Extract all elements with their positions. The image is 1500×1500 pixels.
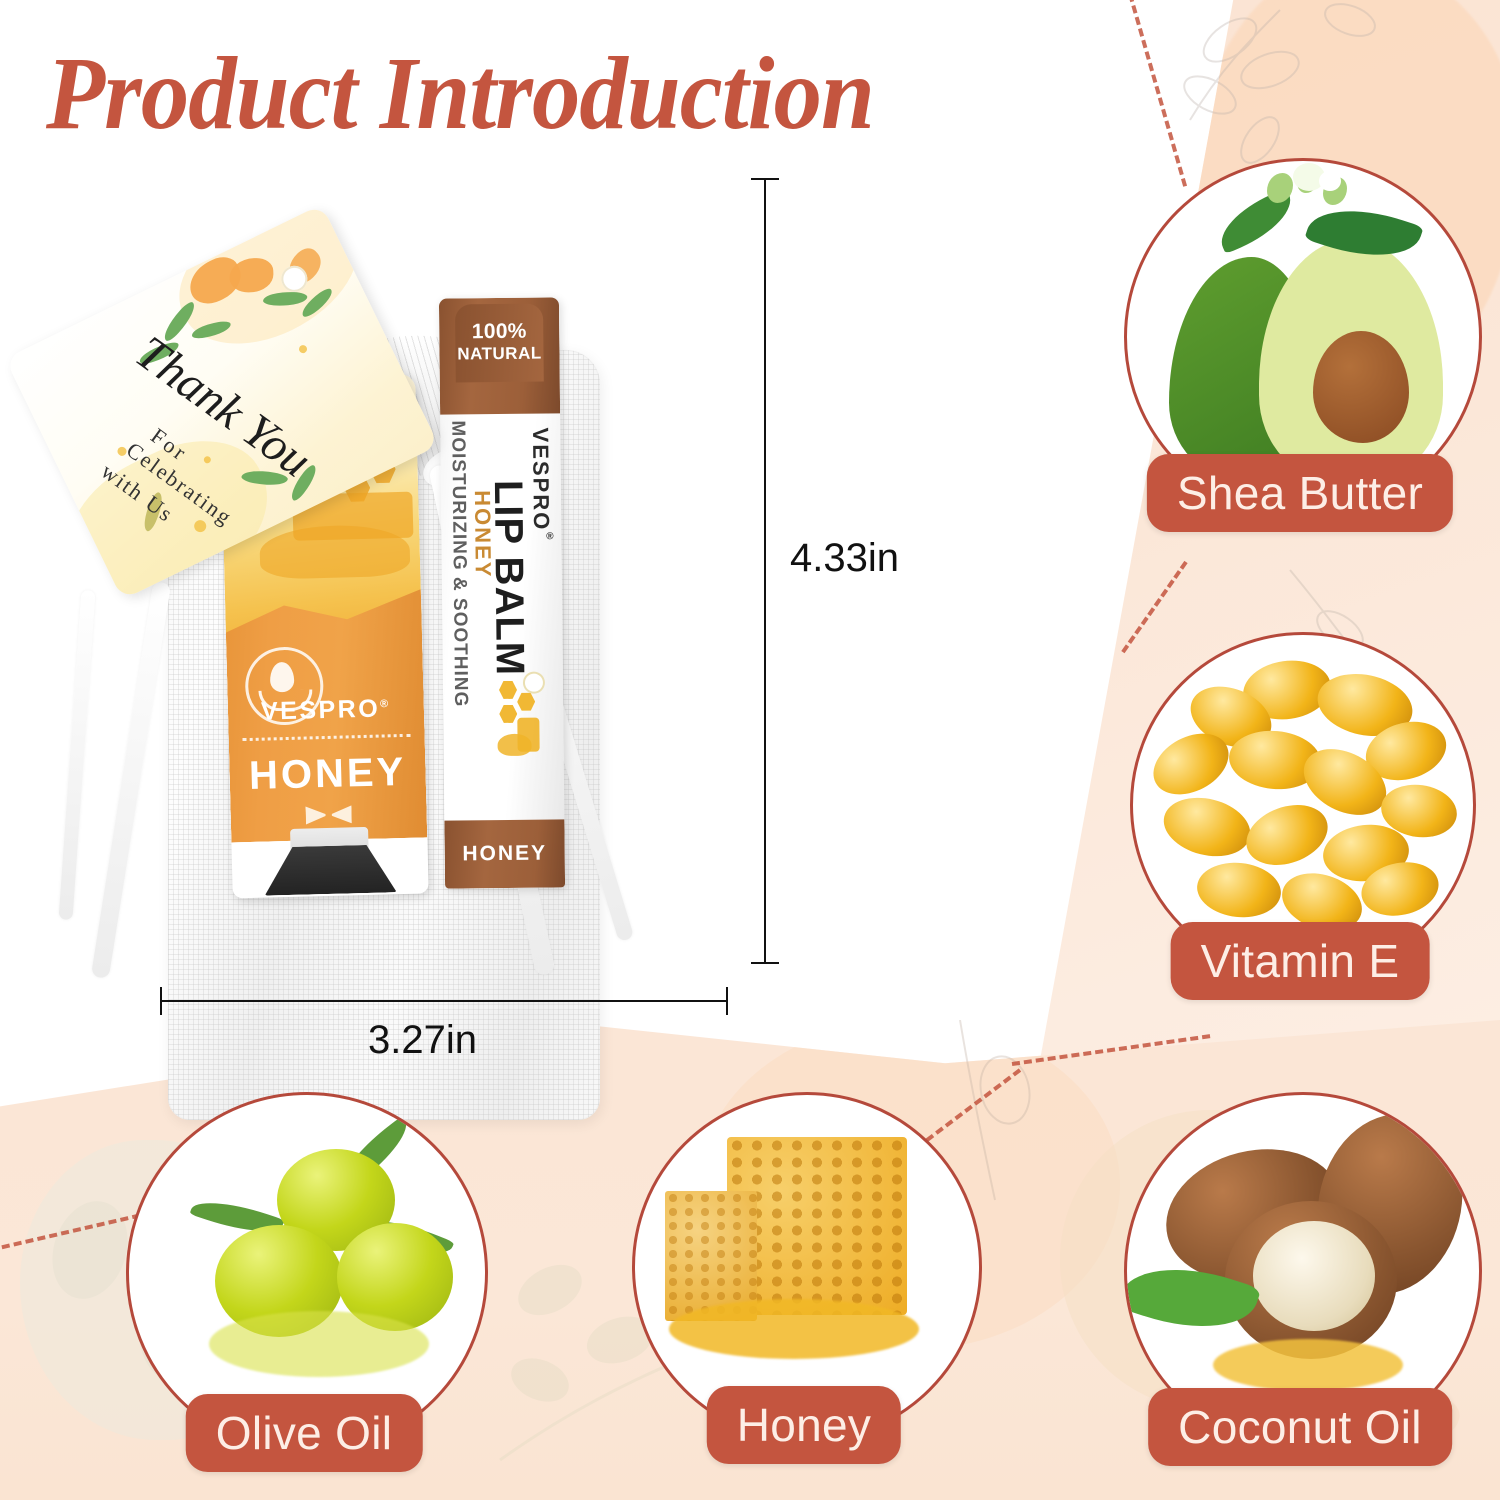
lip-balm-cap-band: 100% NATURAL	[439, 297, 560, 414]
tube-label-body: VESPRO® HONEY HAND&BODY CREAM	[225, 581, 428, 842]
tube-cap	[264, 844, 397, 895]
dimension-line-vertical	[764, 178, 766, 964]
ingredient-label-honey: Honey	[707, 1386, 901, 1464]
ingredient-card-honey[interactable]: Honey	[604, 1092, 1004, 1492]
ingredient-card-vitamin-e[interactable]: Vitamin E	[1100, 632, 1500, 1032]
ingredient-card-coconut-oil[interactable]: Coconut Oil	[1100, 1092, 1500, 1492]
lip-balm-honey-artwork	[495, 671, 554, 768]
lip-balm-bottom-band: HONEY	[444, 819, 565, 888]
ingredient-card-olive-oil[interactable]: Olive Oil	[104, 1092, 504, 1492]
product-photo-group: VESPRO® HONEY HAND&BODY CREAM 100% NATUR…	[30, 160, 750, 1000]
tube-brand-text: VESPRO	[261, 695, 381, 726]
trademark-symbol: ®	[544, 531, 555, 544]
dimension-width-label: 3.27in	[368, 1018, 477, 1063]
trademark-symbol: ®	[380, 698, 391, 710]
ingredient-label-olive-oil: Olive Oil	[186, 1394, 423, 1472]
ingredient-label-vitamin-e: Vitamin E	[1171, 922, 1430, 1000]
dimension-height-label: 4.33in	[790, 536, 899, 581]
ingredient-card-shea-butter[interactable]: Shea Butter	[1100, 158, 1500, 558]
lip-balm-stick: 100% NATURAL VESPRO® LIP BALM HONEY MOIS…	[439, 297, 565, 888]
lip-balm-benefit-text: MOISTURIZING & SOOTHING	[446, 420, 471, 707]
lip-balm-scent-label: HONEY	[469, 490, 496, 579]
ingredient-label-shea-butter: Shea Butter	[1147, 454, 1453, 532]
dimension-line-horizontal	[160, 1000, 728, 1002]
tube-scent-label: HONEY	[229, 749, 426, 799]
lip-balm-natural-badge: 100% NATURAL	[439, 319, 559, 363]
drawstring-ribbon	[91, 581, 171, 979]
drawstring-ribbon	[59, 590, 96, 920]
tube-brand-name: VESPRO®	[228, 693, 425, 727]
bowtie-icon	[305, 805, 351, 824]
lip-balm-brand-text: VESPRO	[528, 427, 554, 531]
badge-percent: 100%	[472, 320, 527, 344]
tube-divider-dots	[243, 734, 411, 741]
page-title: Product Introduction	[46, 34, 874, 153]
lip-balm-brand-name: VESPRO®	[527, 427, 556, 544]
ingredient-label-coconut-oil: Coconut Oil	[1148, 1388, 1452, 1466]
infographic-canvas: Product Introduction	[0, 0, 1500, 1500]
lip-balm-bottom-label: HONEY	[462, 842, 547, 867]
badge-natural: NATURAL	[439, 343, 559, 363]
